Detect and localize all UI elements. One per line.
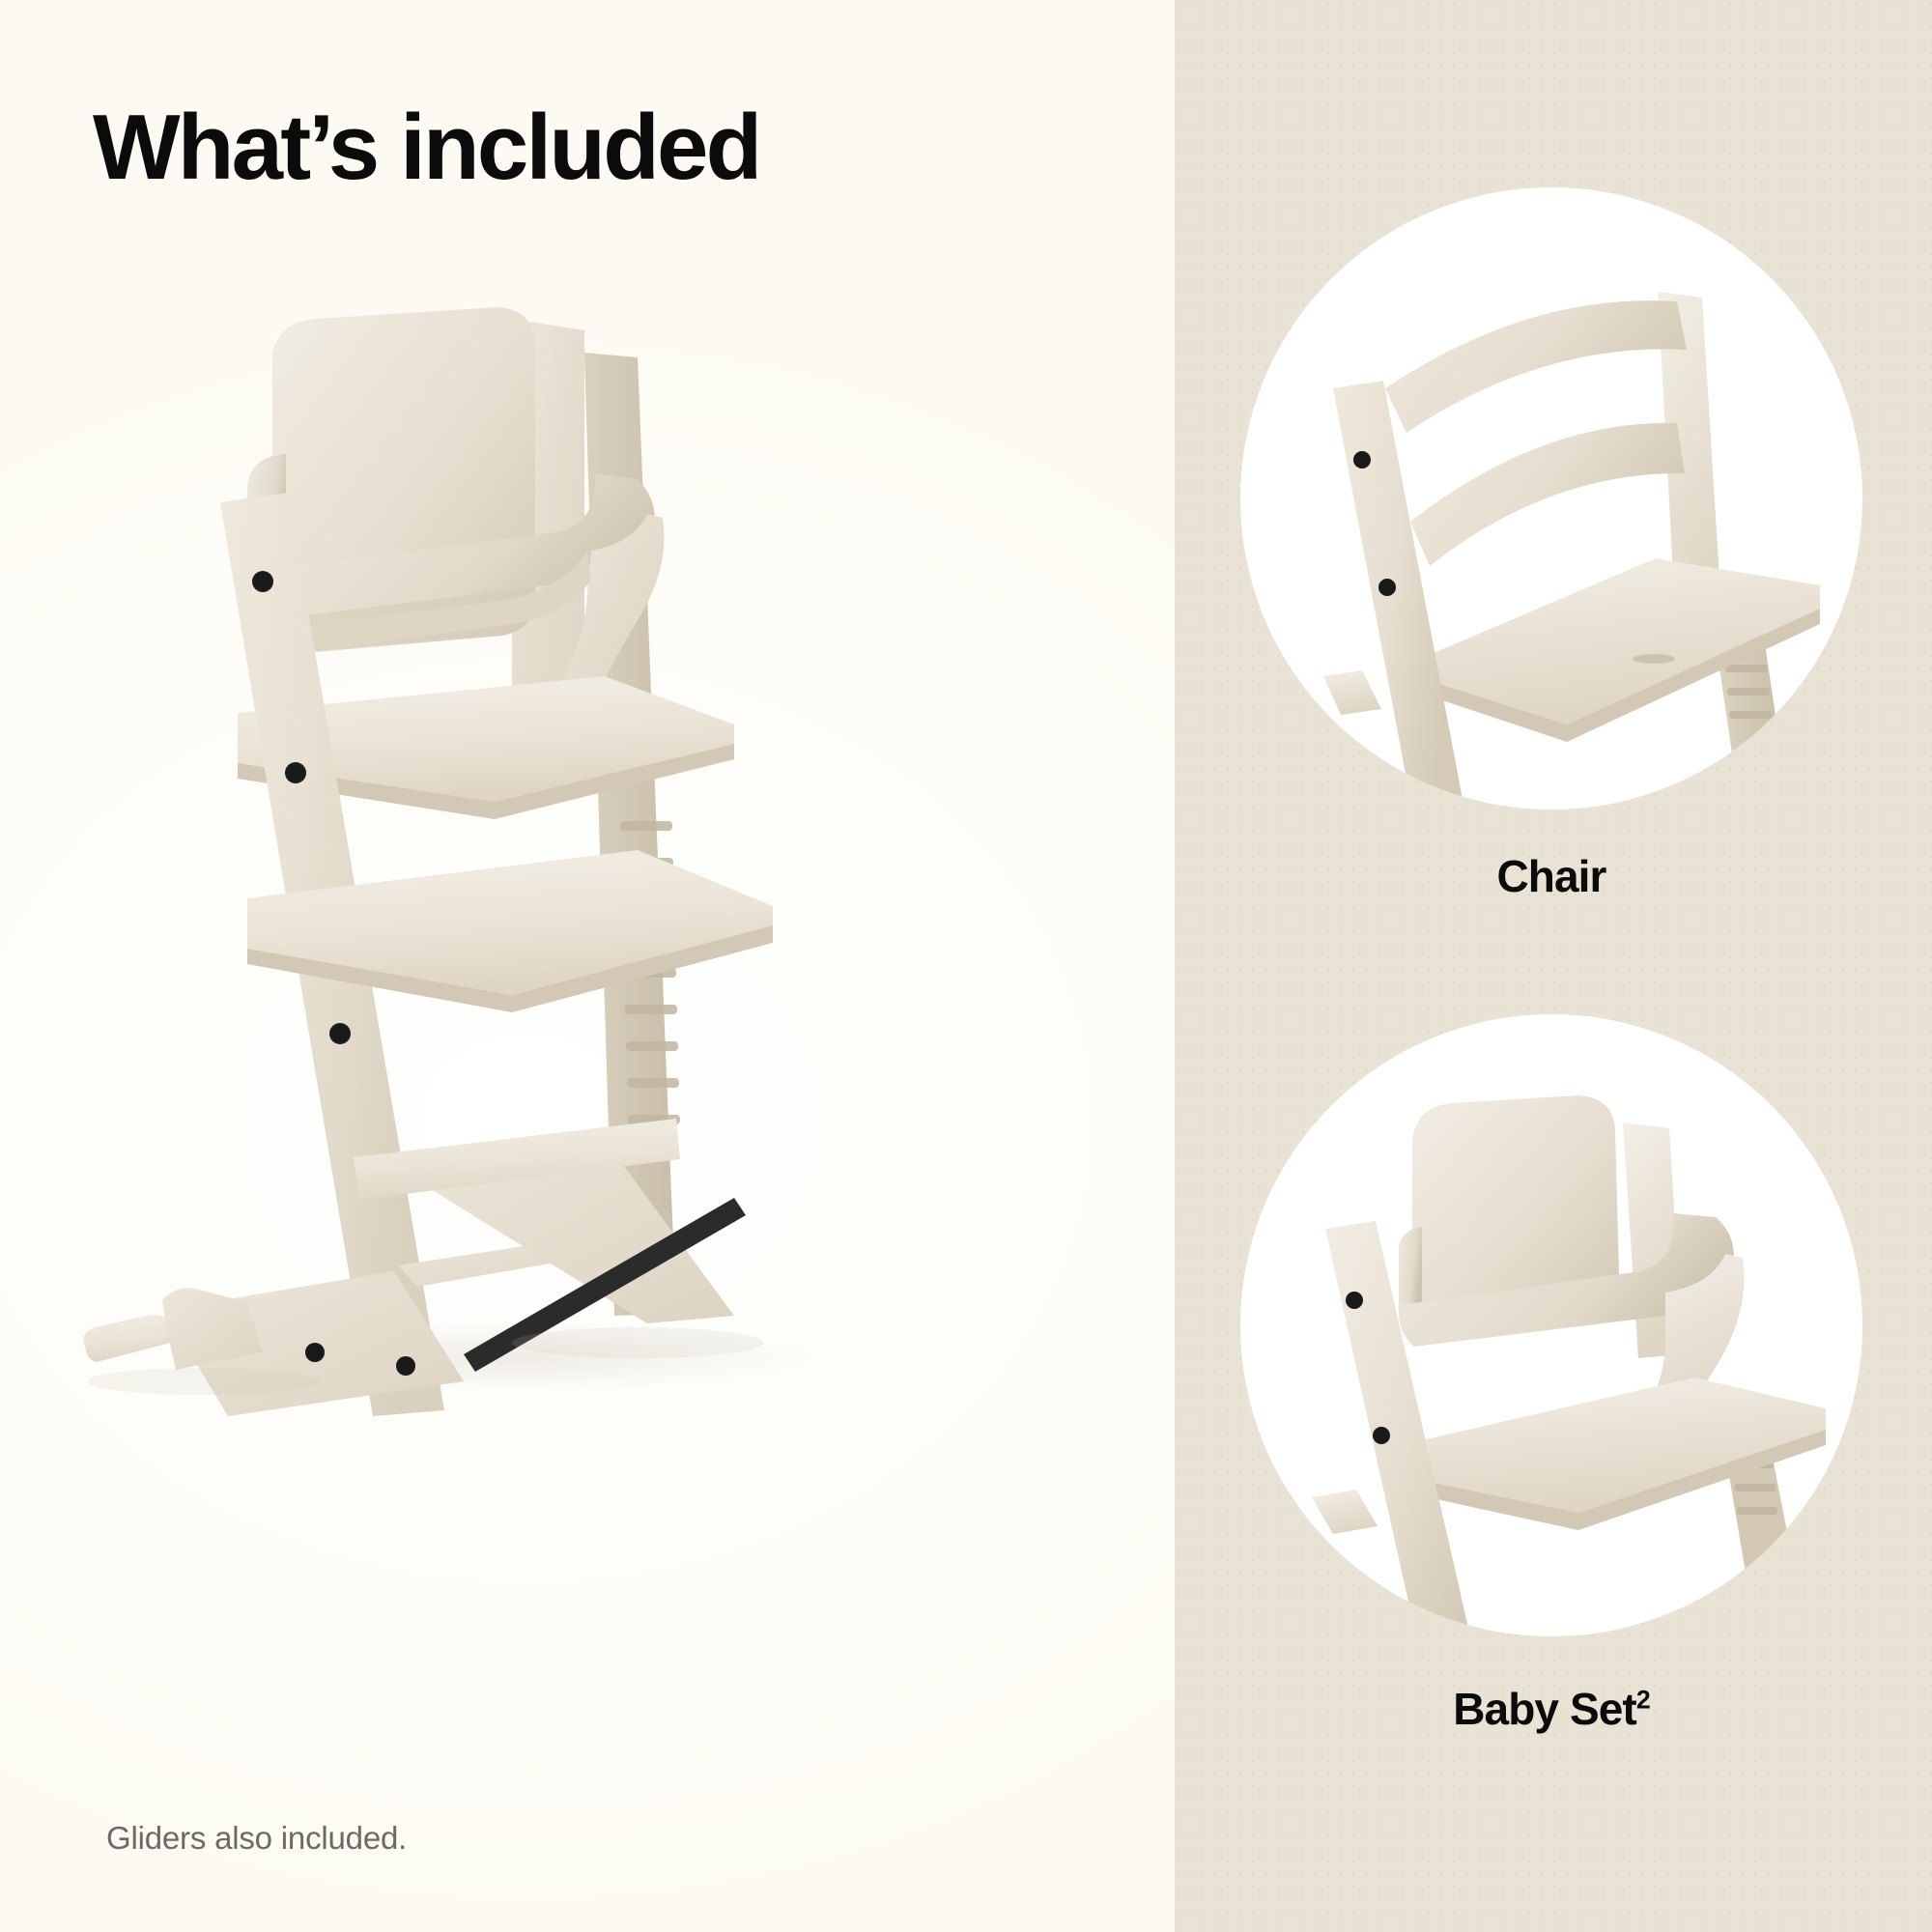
inset-label-chair: Chair <box>1240 850 1862 902</box>
product-included-infographic: What’s included <box>0 0 1932 1932</box>
baby-inset-guard-rail <box>1399 1227 1422 1310</box>
chair-inset-backrest-slat-bottom <box>1410 423 1685 566</box>
bolt-hole-lower <box>329 1023 351 1044</box>
inset-label-baby-set-superscript: 2 <box>1636 1686 1650 1715</box>
chair-glider <box>83 1315 178 1362</box>
baby-inset-bolt-hole-lower <box>1373 1427 1390 1444</box>
baby-inset-foot-stub <box>1312 1490 1378 1534</box>
glider-shadow <box>87 1368 319 1395</box>
bolt-hole-foot-left <box>305 1343 325 1362</box>
inset-label-baby-set-text: Baby Set <box>1453 1684 1636 1734</box>
inset-label-chair-text: Chair <box>1496 851 1605 901</box>
page-title: What’s included <box>93 100 759 196</box>
footnote-text: Gliders also included. <box>106 1820 407 1857</box>
leg-shadow <box>512 1327 763 1358</box>
hero-product-image <box>58 261 1111 1420</box>
inset-label-baby-set: Baby Set2 <box>1240 1683 1862 1735</box>
bolt-hole-foot-right <box>396 1356 415 1376</box>
inset-circle-baby-set <box>1240 1014 1862 1636</box>
inset-circle-chair <box>1240 187 1862 810</box>
bolt-hole-upper <box>252 571 273 592</box>
chair-inset-seat-slot <box>1633 654 1675 664</box>
baby-inset-bolt-hole-upper <box>1346 1292 1363 1309</box>
chair-inset-bolt-hole-upper <box>1353 451 1371 469</box>
chair-inset-bolt-hole-lower <box>1378 579 1396 596</box>
chair-inset-foot-stub <box>1323 670 1381 715</box>
bolt-hole-mid <box>285 762 306 783</box>
chair-inset-backrest-slat-top <box>1385 300 1687 433</box>
